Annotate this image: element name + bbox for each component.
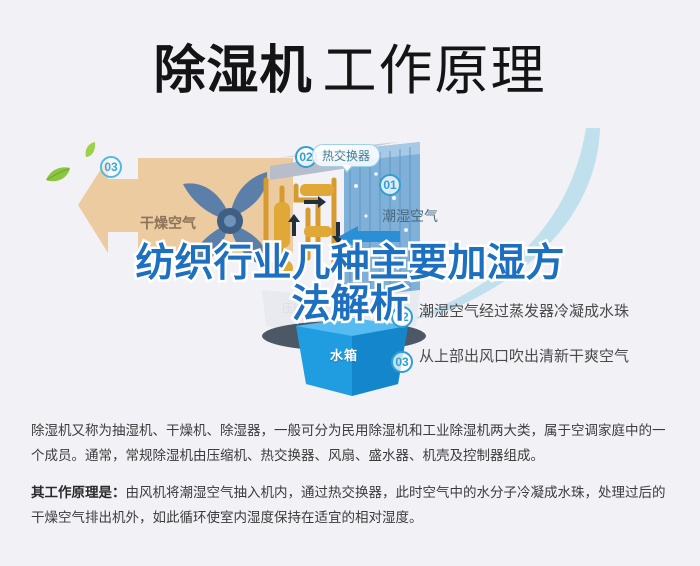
paragraph-2: 其工作原理是：由风机将潮湿空气抽入机内，通过热交换器，此时空气中的水分子冷凝成水… xyxy=(31,480,671,530)
wet-air-label: 潮湿空气 xyxy=(382,206,438,226)
page-title: 除湿机工作原理 xyxy=(0,26,700,105)
paragraph-2-lead: 其工作原理是： xyxy=(31,485,126,500)
page-title-light: 工作原理 xyxy=(323,41,547,101)
caption-step-03: 03从上部出风口吹出清新干爽空气 xyxy=(391,345,629,373)
badge-03-dry-air: 03 xyxy=(100,156,122,178)
heat-exchanger-callout: 热交换器 xyxy=(312,144,380,167)
leaf-icon xyxy=(45,166,71,184)
badge-03-icon: 03 xyxy=(391,351,413,373)
caption-step-03-text: 从上部出风口吹出清新干爽空气 xyxy=(419,348,629,365)
body-copy: 除湿机又称为抽湿机、干燥机、除湿器，一般可分为民用除湿机和工业除湿机两大类，属于… xyxy=(31,418,671,542)
paragraph-1: 除湿机又称为抽湿机、干燥机、除湿器，一般可分为民用除湿机和工业除湿机两大类，属于… xyxy=(31,418,671,468)
page-title-bold: 除湿机 xyxy=(153,42,312,100)
poster-canvas: 除湿机工作原理 xyxy=(0,0,700,566)
dry-air-label: 干燥空气 xyxy=(140,213,196,233)
overlay-headline-line1: 纺织行业几种主要加湿方 xyxy=(0,243,700,284)
overlay-headline: 纺织行业几种主要加湿方 法解析 xyxy=(0,243,700,325)
leaf-icon xyxy=(83,142,97,158)
overlay-headline-line2: 法解析 xyxy=(0,284,700,325)
water-tank-label: 水箱 xyxy=(330,345,358,364)
badge-01-wet-air: 01 xyxy=(379,174,401,196)
paragraph-2-rest: 由风机将潮湿空气抽入机内，通过热交换器，此时空气中的水分子冷凝成水珠，处理过后的… xyxy=(31,485,666,525)
